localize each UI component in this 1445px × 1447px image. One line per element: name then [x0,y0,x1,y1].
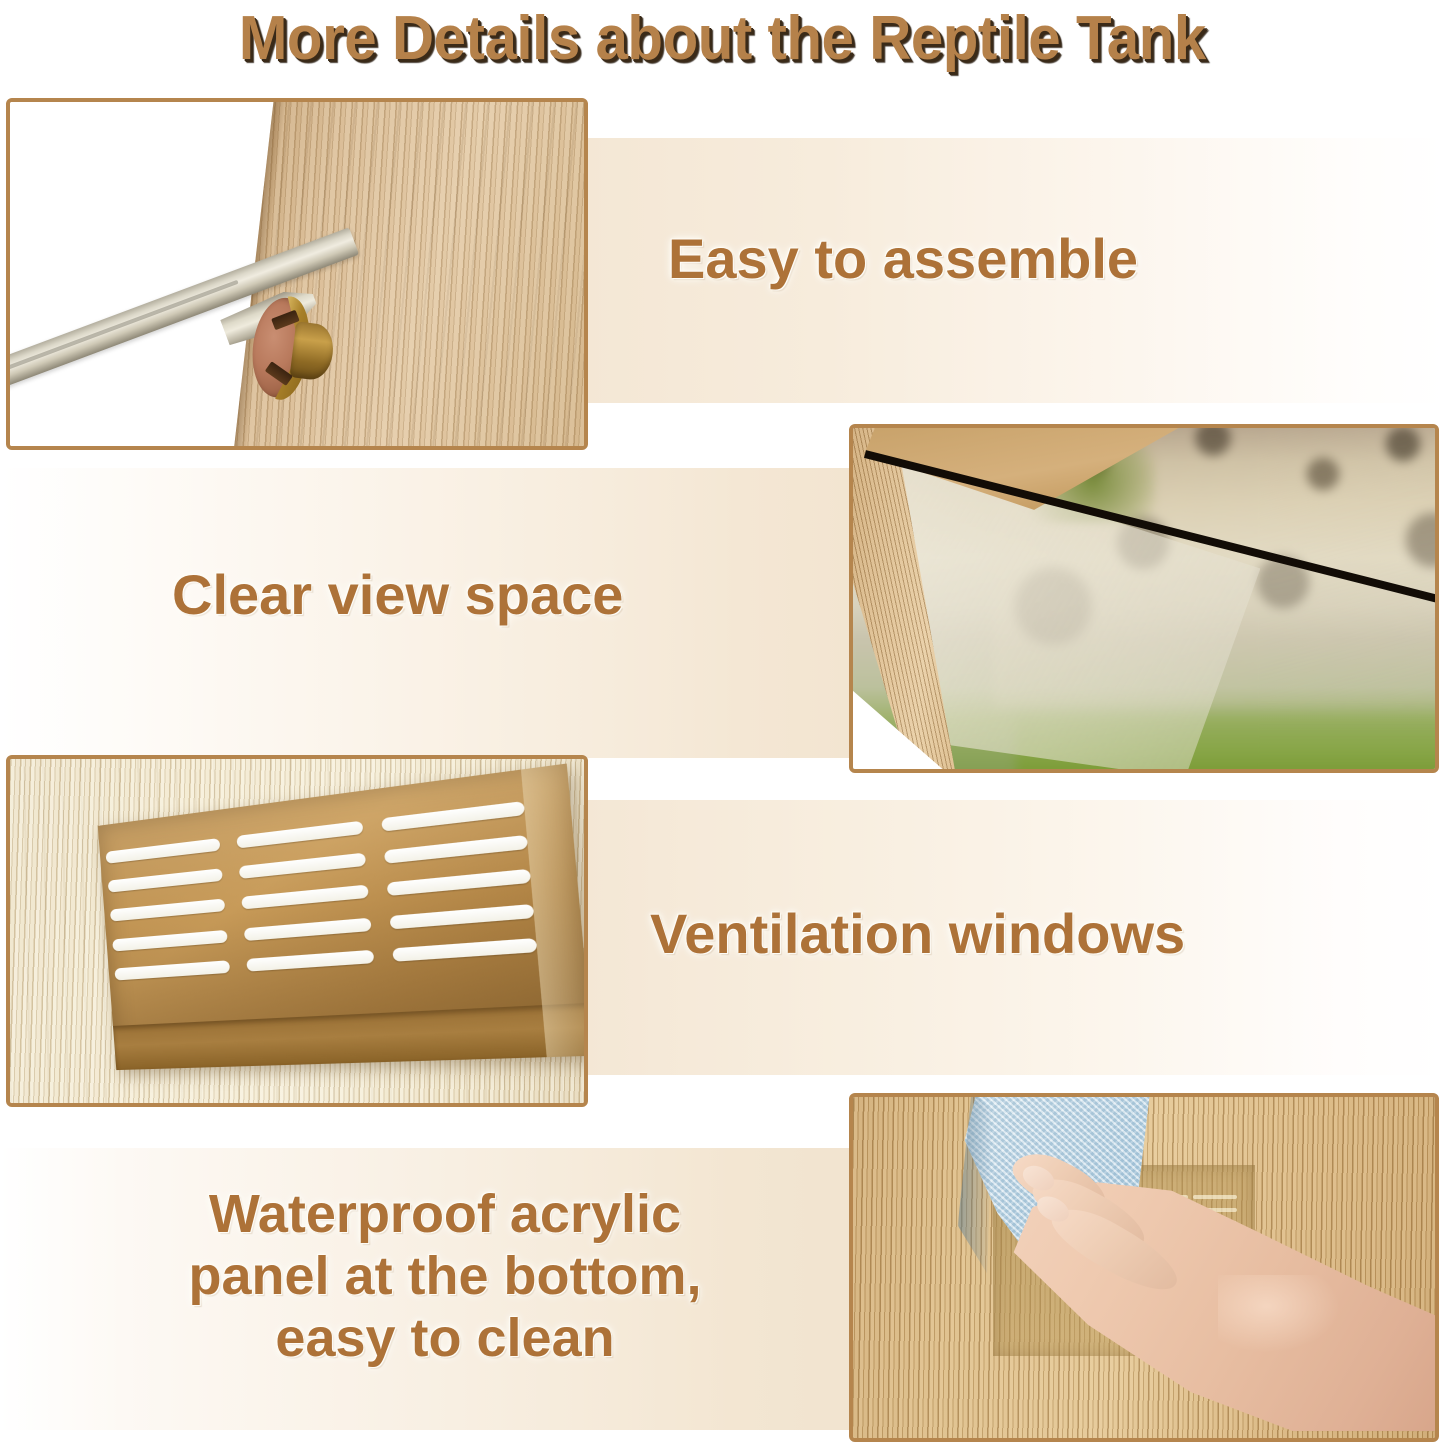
caption-clear-view-space: Clear view space [172,564,623,626]
caption-line: panel at the bottom, [105,1245,785,1307]
caption-ventilation-windows: Ventilation windows [650,903,1185,965]
photo-hand-wiping-panel-with-cloth [849,1093,1439,1442]
photo-screwdriver-screw-in-wood-panel [6,98,588,450]
title-bar: More Details about the Reptile Tank [0,0,1445,78]
page-title: More Details about the Reptile Tank [239,8,1206,70]
caption-line: easy to clean [105,1307,785,1369]
vent-slot-group [380,777,540,986]
vent-slot-group [234,798,376,994]
vent-slot-group [104,816,232,1001]
photo-wooden-ventilation-grille [6,755,588,1107]
screw-head [247,295,321,402]
caption-easy-to-assemble: Easy to assemble [668,228,1138,290]
caption-line: Waterproof acrylic [105,1183,785,1245]
caption-waterproof-acrylic-panel: Waterproof acrylic panel at the bottom, … [105,1183,785,1369]
photo-clear-acrylic-viewing-panel [849,424,1439,773]
